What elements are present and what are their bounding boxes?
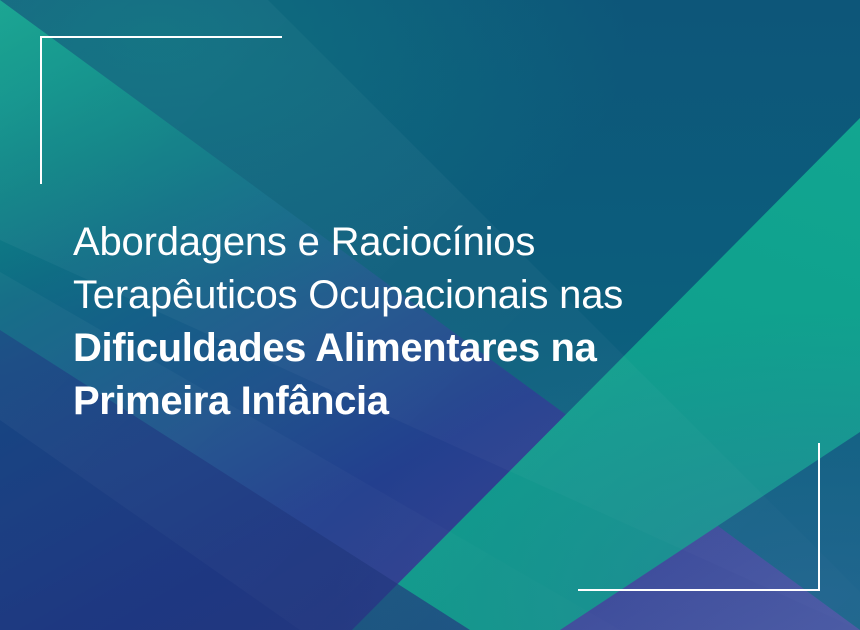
bracket-vertical-rule xyxy=(40,36,42,184)
corner-bracket-bottom-right xyxy=(578,443,820,591)
title-line-1: Abordagens e Raciocínios xyxy=(73,216,803,269)
corner-bracket-top-left xyxy=(40,36,282,184)
bracket-vertical-rule xyxy=(818,443,820,591)
bracket-horizontal-rule xyxy=(40,36,282,38)
title-line-2: Terapêuticos Ocupacionais nas xyxy=(73,269,803,322)
slide-title: Abordagens e Raciocínios Terapêuticos Oc… xyxy=(73,216,803,428)
bracket-horizontal-rule xyxy=(578,589,820,591)
title-line-3: Dificuldades Alimentares na xyxy=(73,322,803,375)
slide-canvas: Abordagens e Raciocínios Terapêuticos Oc… xyxy=(0,0,860,630)
title-line-4: Primeira Infância xyxy=(73,375,803,428)
